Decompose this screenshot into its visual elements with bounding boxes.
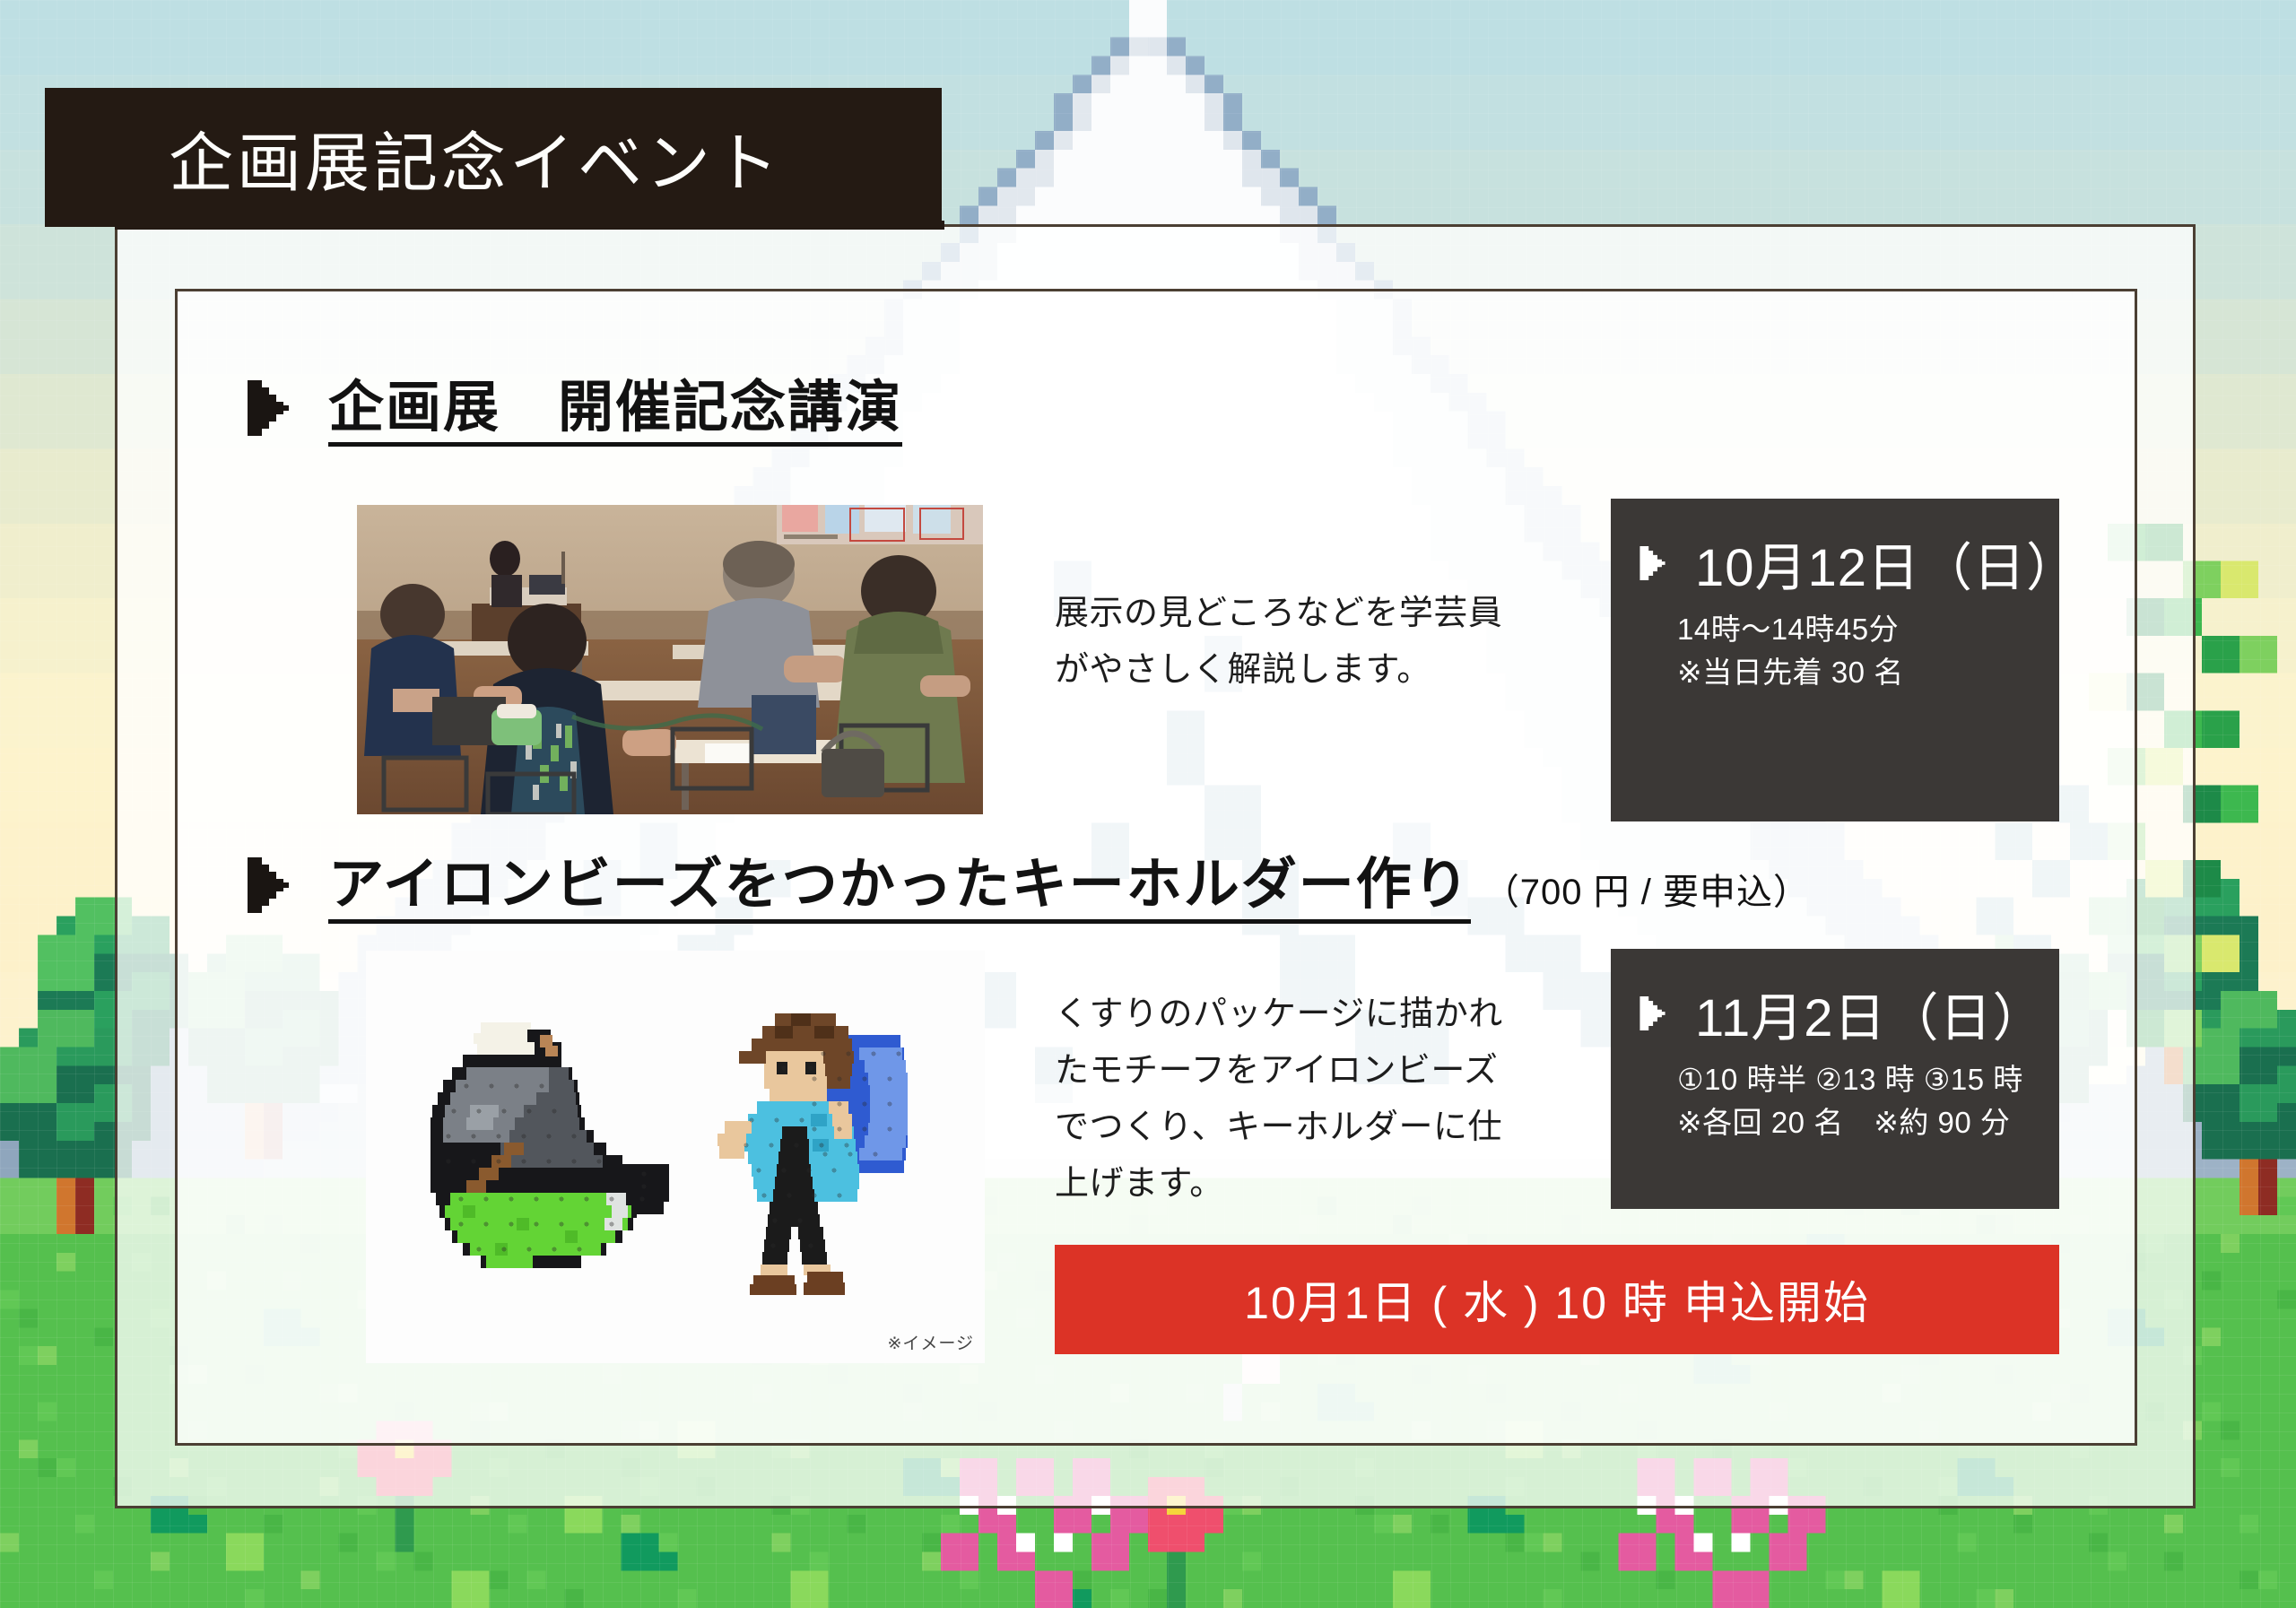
section-2-heading-note: （700 円 / 要申込）: [1483, 863, 1810, 924]
section-1-description: 展示の見どころなどを学芸員 がやさしく解説します。: [1055, 586, 1575, 699]
arrow-right-pixel-icon: [1638, 993, 1677, 1034]
section-1-date-text: 10月12日（日）: [1695, 526, 2079, 601]
arrow-right-pixel-icon: [244, 375, 309, 441]
application-start-banner[interactable]: 10月1日 ( 水 ) 10 時 申込開始: [1055, 1245, 2059, 1354]
arrow-right-pixel-icon: [244, 852, 309, 918]
section-1-time-text: 14時〜14時45分: [1677, 608, 2029, 651]
section-2-description: くすりのパッケージに描かれ たモチーフをアイロンビーズ でつくり、キーホルダーに…: [1055, 987, 1575, 1213]
section-1-date-box: 10月12日（日） 14時〜14時45分 ※当日先着 30 名: [1611, 499, 2059, 821]
application-start-text: 10月1日 ( 水 ) 10 時 申込開始: [1244, 1267, 1870, 1332]
perler-beads-keyholder-photo: ※イメージ: [366, 951, 985, 1363]
section-2-capacity-text: ※各回 20 名 ※約 90 分: [1677, 1101, 2029, 1144]
section-2-date-text: 11月2日（日）: [1695, 976, 2045, 1051]
event-section-lecture: 企画展 開催記念講演: [244, 375, 902, 447]
section-1-heading-text: 企画展 開催記念講演: [328, 378, 902, 447]
arrow-right-pixel-icon: [1638, 543, 1677, 584]
section-2-heading-text: アイロンビーズをつかったキーホルダー作り: [328, 856, 1471, 924]
section-2-heading-row: アイロンビーズをつかったキーホルダー作り （700 円 / 要申込）: [244, 852, 1810, 924]
event-section-beads: アイロンビーズをつかったキーホルダー作り （700 円 / 要申込）: [244, 852, 1810, 924]
section-1-heading-row: 企画展 開催記念講演: [244, 375, 902, 447]
event-poster: 企画展記念イベント 企画展 開催記念講演: [0, 0, 2296, 1608]
section-1-capacity-text: ※当日先着 30 名: [1677, 651, 2029, 694]
section-1-date-row: 10月12日（日）: [1638, 526, 2029, 601]
section-2-sessions-text: ①10 時半 ②13 時 ③15 時: [1677, 1058, 2029, 1101]
photo-caption-note: ※イメージ: [887, 1330, 974, 1354]
lecture-hall-photo: [357, 505, 983, 814]
section-2-date-box: 11月2日（日） ①10 時半 ②13 時 ③15 時 ※各回 20 名 ※約 …: [1611, 949, 2059, 1209]
section-2-date-row: 11月2日（日）: [1638, 976, 2029, 1051]
